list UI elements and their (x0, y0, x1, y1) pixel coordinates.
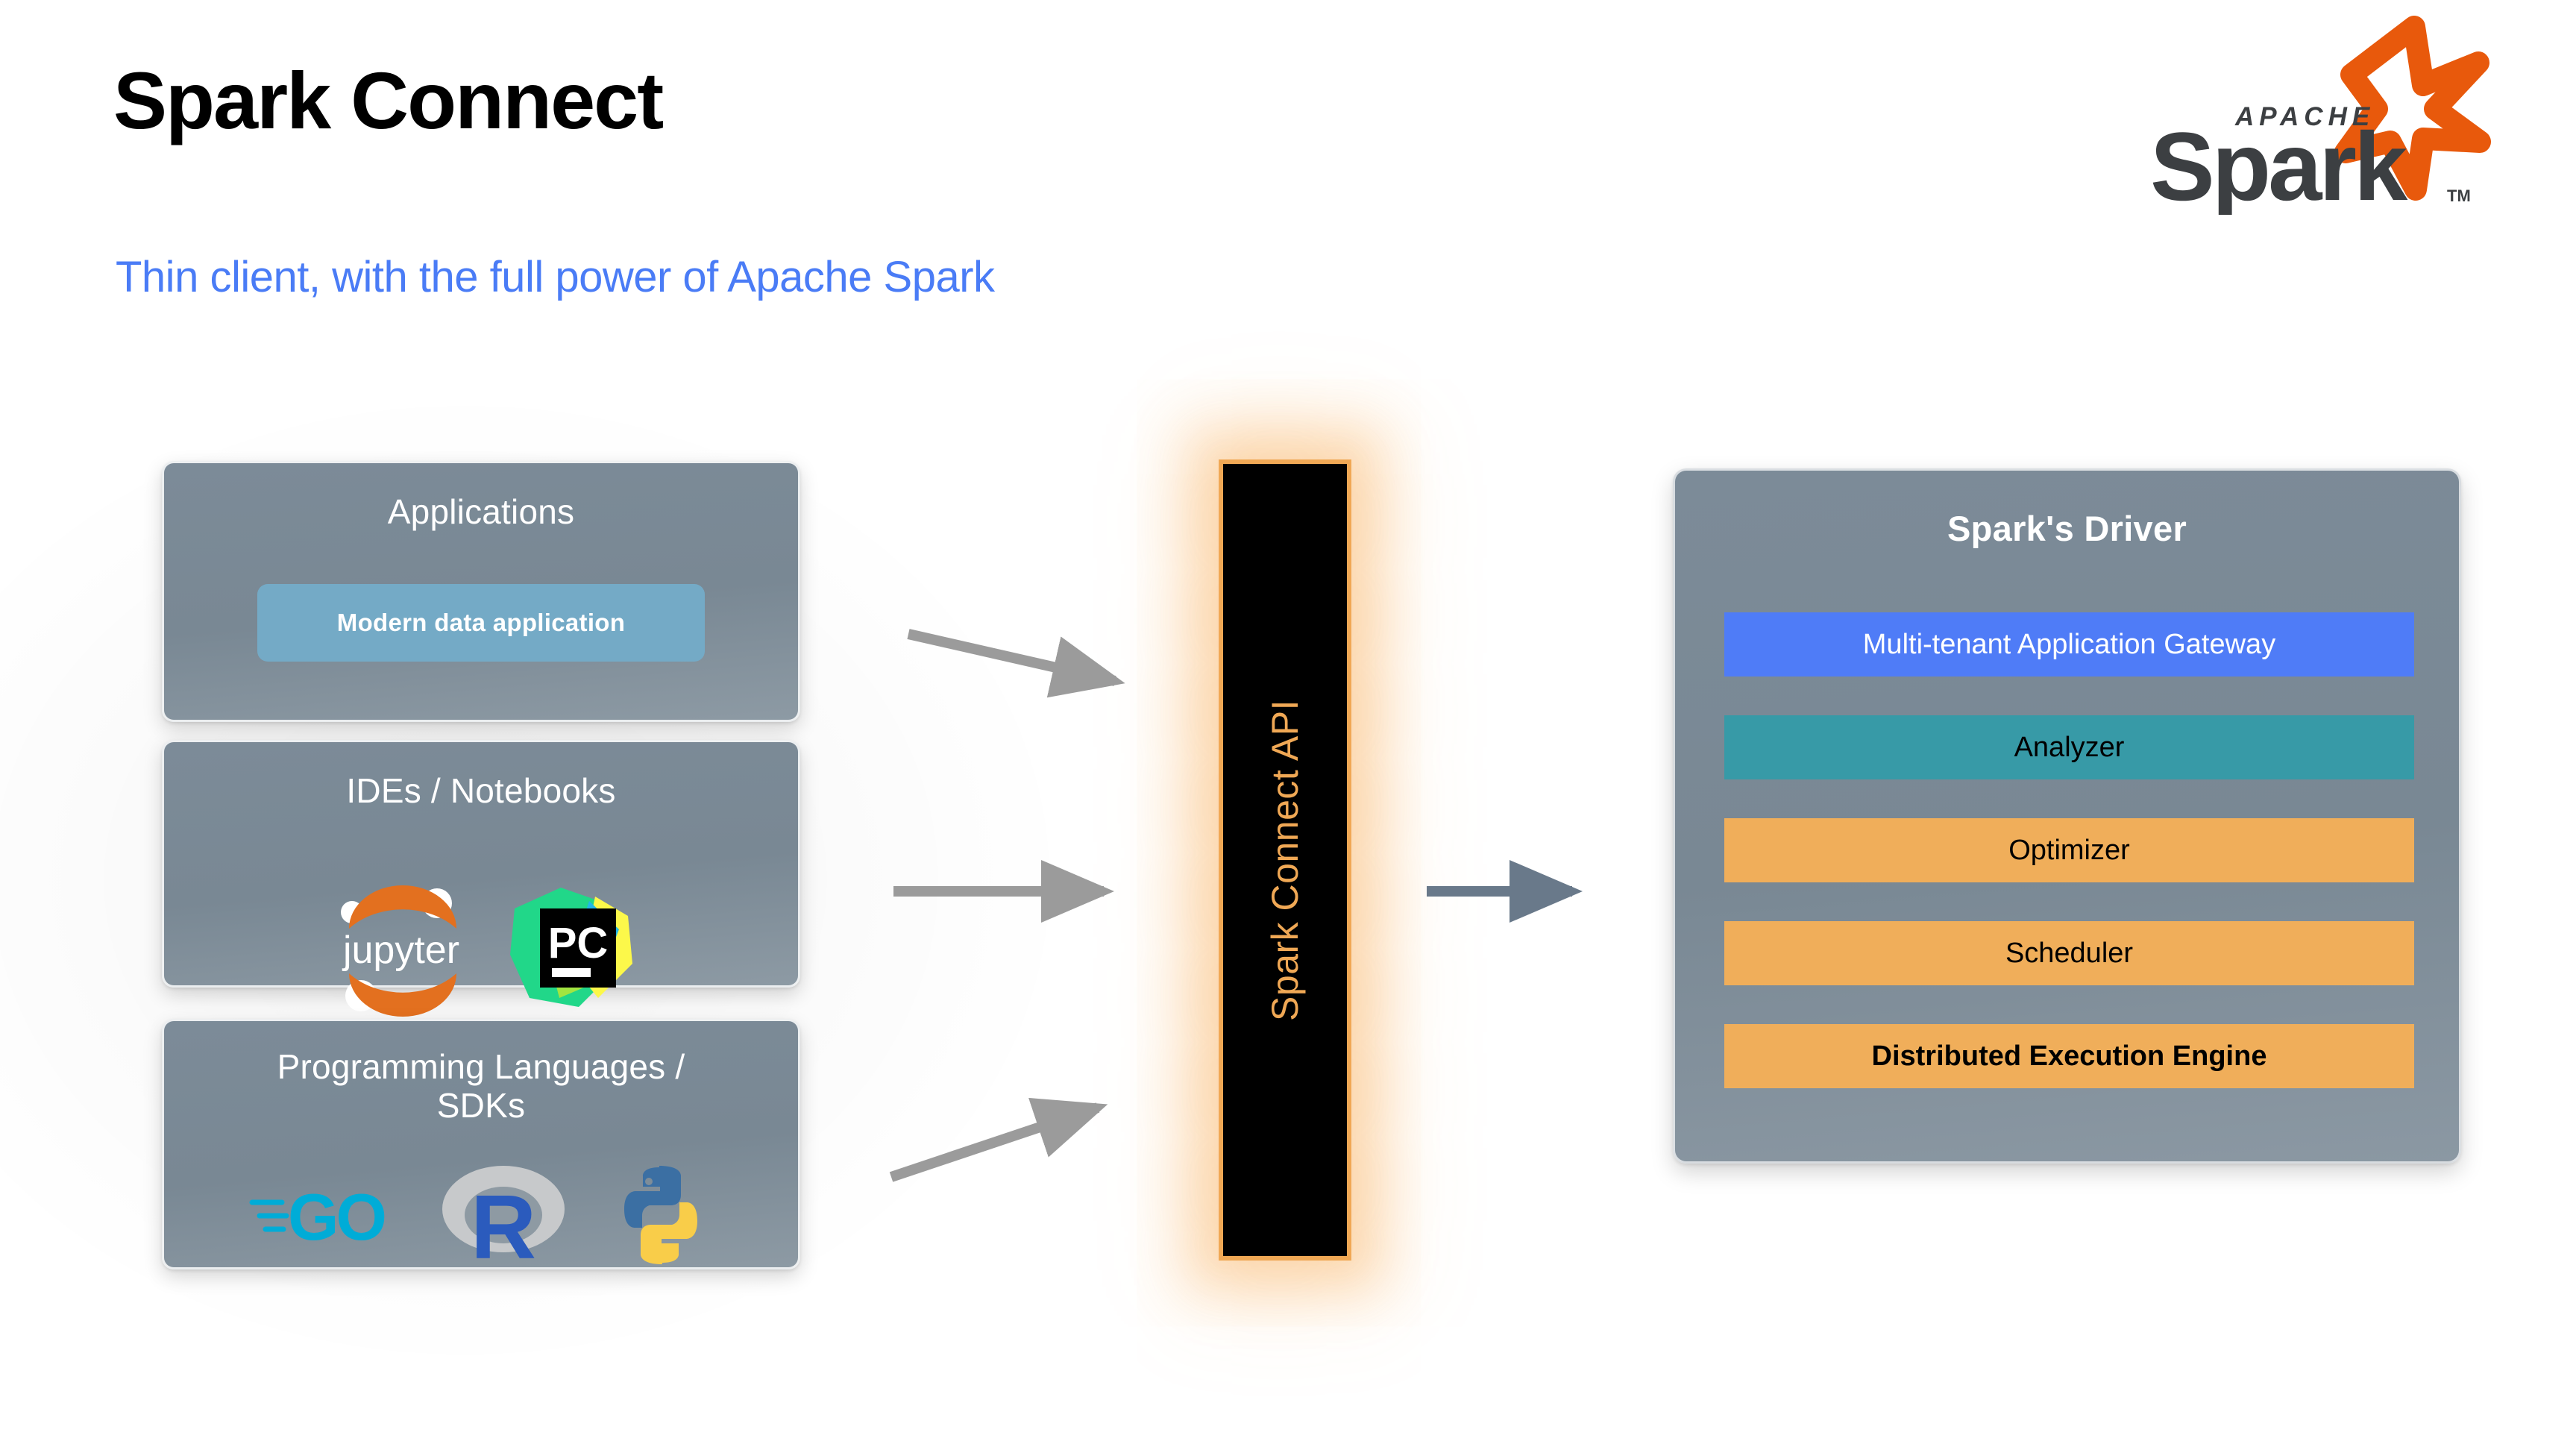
spark-driver-title: Spark's Driver (1675, 508, 2459, 549)
spark-connect-api-bar[interactable]: Spark Connect API (1219, 459, 1351, 1261)
client-card-applications[interactable]: Applications Modern data application (162, 461, 800, 722)
jupyter-wordmark: jupyter (342, 929, 459, 972)
python-bottom-coil (641, 1202, 697, 1264)
driver-row-label: Optimizer (2008, 835, 2130, 867)
python-top-coil (624, 1166, 681, 1228)
logo-trademark: TM (2447, 186, 2471, 205)
pycharm-logo: PC (507, 886, 634, 1017)
logo-spark-text: Spark (2150, 112, 2408, 215)
driver-row-label: Multi-tenant Application Gateway (1863, 629, 2275, 661)
driver-row-distributed-execution-engine[interactable]: Distributed Execution Engine (1724, 1024, 2414, 1088)
spark-connect-api-label: Spark Connect API (1263, 700, 1307, 1021)
driver-row-label: Distributed Execution Engine (1872, 1040, 2267, 1073)
modern-data-application-pill[interactable]: Modern data application (257, 584, 705, 662)
card-title-languages: Programming Languages / SDKs (164, 1048, 798, 1125)
languages-logo-row: GO R (164, 1163, 798, 1271)
card-title-ides: IDEs / Notebooks (164, 772, 798, 811)
spark-driver-panel[interactable]: Spark's Driver Multi-tenant Application … (1673, 468, 2461, 1164)
driver-row-label: Scheduler (2005, 938, 2133, 970)
driver-row-label: Analyzer (2014, 732, 2125, 764)
go-speed-lines (252, 1202, 286, 1229)
go-logo: GO (249, 1174, 398, 1260)
card-title-applications: Applications (164, 493, 798, 532)
go-wordmark: GO (288, 1180, 384, 1254)
page-title: Spark Connect (113, 58, 662, 142)
driver-row-multi-tenant-application-gateway[interactable]: Multi-tenant Application Gateway (1724, 612, 2414, 677)
pycharm-badge-text: PC (548, 919, 609, 967)
python-logo (609, 1163, 713, 1271)
driver-row-optimizer[interactable]: Optimizer (1724, 818, 2414, 882)
apache-spark-logo: APACHE Spark TM (2122, 13, 2495, 215)
driver-row-analyzer[interactable]: Analyzer (1724, 715, 2414, 779)
ides-logo-row: jupyter PC (164, 882, 798, 1020)
slide-root: Spark Connect Thin client, with the full… (0, 0, 2576, 1447)
driver-row-scheduler[interactable]: Scheduler (1724, 921, 2414, 985)
page-subtitle: Thin client, with the full power of Apac… (116, 254, 995, 301)
r-logo: R (440, 1163, 567, 1271)
card-title-languages-line2: SDKs (164, 1087, 798, 1126)
pycharm-underscore (552, 968, 591, 977)
card-title-languages-line1: Programming Languages / (164, 1048, 798, 1087)
client-card-languages-sdks[interactable]: Programming Languages / SDKs GO (162, 1019, 800, 1269)
r-wordmark: R (471, 1176, 536, 1267)
jupyter-logo: jupyter (328, 882, 474, 1020)
client-card-ides-notebooks[interactable]: IDEs / Notebooks jupyter (162, 740, 800, 988)
